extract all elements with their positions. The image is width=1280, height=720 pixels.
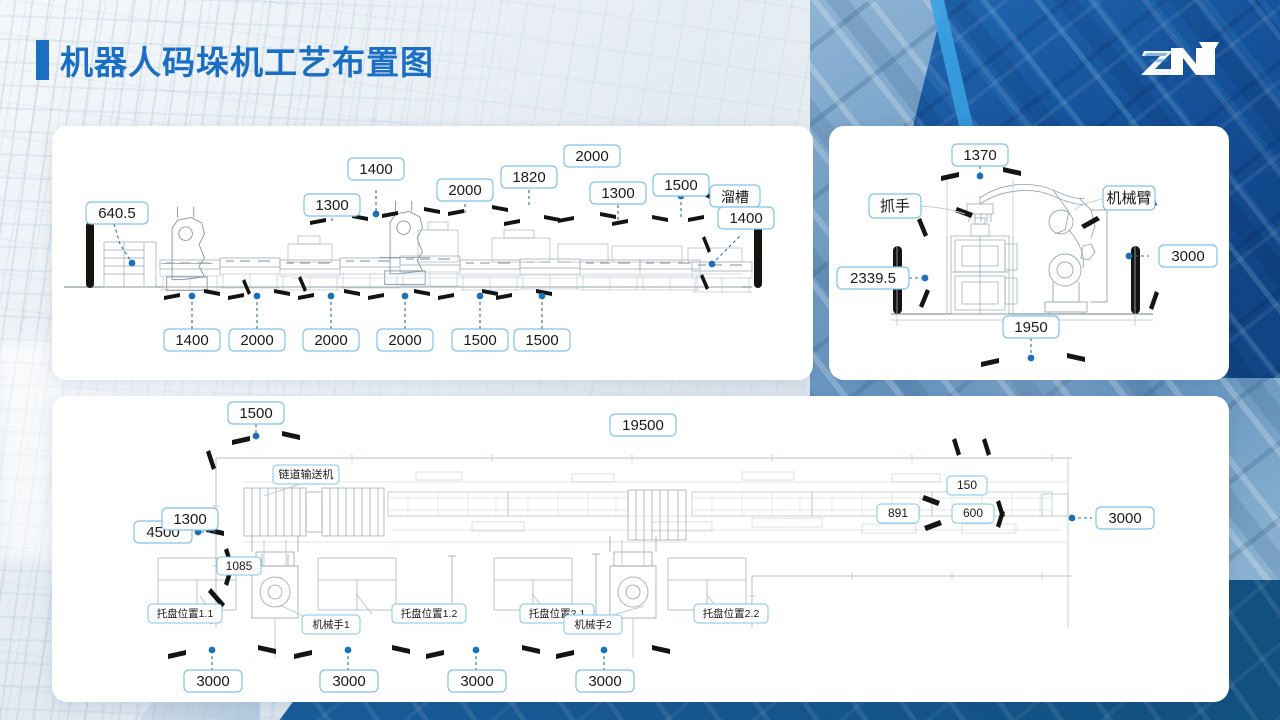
callout-label: 3000 <box>588 673 621 690</box>
callout-891[interactable]: 891 <box>877 504 919 523</box>
callout-label: 1500 <box>239 405 272 422</box>
callout-conveyor[interactable]: 链道输送机 <box>273 465 339 484</box>
callout-2000-top-a[interactable]: 2000 <box>437 179 493 201</box>
slide-canvas: 机器人码垛机工艺布置图 <box>0 0 1280 720</box>
callout-label: 1300 <box>315 197 348 214</box>
pallet-stack-frame <box>947 218 1017 314</box>
callout-label: 3000 <box>460 673 493 690</box>
callout-label: 19500 <box>622 417 664 434</box>
machine-details <box>162 222 742 287</box>
robot-arm <box>980 184 1107 314</box>
callout-1085[interactable]: 1085 <box>217 557 261 575</box>
elevation-drawing: 1400 1300 2000 1820 2000 1300 <box>52 126 813 380</box>
callout-robot-arm[interactable]: 机械臂 <box>1103 186 1155 210</box>
conveyor-train <box>244 482 1068 542</box>
callout-label: 托盘位置2.2 <box>703 607 760 620</box>
page-header: 机器人码垛机工艺布置图 <box>36 36 434 84</box>
callout-plan-bottom-1[interactable]: 3000 <box>184 670 242 692</box>
page-title: 机器人码垛机工艺布置图 <box>60 36 434 84</box>
callout-1400-top[interactable]: 1400 <box>348 158 404 180</box>
callout-label: 3000 <box>1171 248 1204 265</box>
callout-robot-2[interactable]: 机械手2 <box>564 615 622 634</box>
callout-2000-top-b[interactable]: 2000 <box>564 145 620 167</box>
robot-detail-drawing: 1370 抓手 机械臂 2339.5 3000 1950 <box>829 126 1229 380</box>
panel-elevation-layout: 1400 1300 2000 1820 2000 1300 <box>52 126 813 380</box>
callout-label: 链道输送机 <box>279 467 334 481</box>
callout-label: 1300 <box>601 185 634 202</box>
robot-plan-1 <box>252 536 298 618</box>
callout-gripper[interactable]: 抓手 <box>869 194 921 218</box>
callout-label: 托盘位置1.1 <box>157 607 214 620</box>
callout-plan-bottom-4[interactable]: 3000 <box>576 670 634 692</box>
callout-robot-1[interactable]: 机械手1 <box>302 615 360 634</box>
callout-label: 640.5 <box>98 205 136 222</box>
callout-label: 891 <box>888 506 908 520</box>
callout-label: 1085 <box>226 559 253 573</box>
callout-1400-right[interactable]: 1400 <box>718 207 774 229</box>
callout-label: 2339.5 <box>850 270 896 287</box>
plan-drawing: 1500 19500 4500 1300 1085 链道输送机 <box>52 396 1229 702</box>
title-accent-bar <box>36 40 49 80</box>
callout-bottom-6[interactable]: 1500 <box>514 329 570 351</box>
callout-label: 1370 <box>963 147 996 164</box>
callout-pallet-1-1[interactable]: 托盘位置1.1 <box>148 604 222 623</box>
callout-label: 2000 <box>388 332 421 349</box>
callout-label: 3000 <box>1108 510 1141 527</box>
callout-label: 1300 <box>173 511 206 528</box>
callout-bottom-3[interactable]: 2000 <box>303 329 359 351</box>
callout-bottom-1[interactable]: 1400 <box>164 329 220 351</box>
callout-3000-plan-right[interactable]: 3000 <box>1096 507 1154 529</box>
callout-label: 2000 <box>314 332 347 349</box>
callout-label: 机械臂 <box>1106 190 1151 207</box>
callout-label: 600 <box>963 506 983 520</box>
callout-chute[interactable]: 溜槽 <box>710 185 760 207</box>
callout-plan-bottom-2[interactable]: 3000 <box>320 670 378 692</box>
callout-label: 溜槽 <box>721 189 749 205</box>
machine-annotations <box>416 472 1016 533</box>
callout-3000-right[interactable]: 3000 <box>1159 245 1217 267</box>
callout-19500[interactable]: 19500 <box>610 414 676 436</box>
callout-pallet-2-2[interactable]: 托盘位置2.2 <box>694 604 768 623</box>
robot-unit <box>161 207 212 291</box>
callout-label: 2000 <box>240 332 273 349</box>
callout-600[interactable]: 600 <box>952 504 994 523</box>
callout-bottom-4[interactable]: 2000 <box>377 329 433 351</box>
callout-1370[interactable]: 1370 <box>952 144 1008 166</box>
pallet-position-2-2 <box>668 558 746 610</box>
callout-label: 150 <box>957 478 977 492</box>
left-post <box>86 222 94 288</box>
plan-frame-markers <box>212 454 1068 628</box>
callout-label: 托盘位置1.2 <box>401 607 458 620</box>
callout-1820-top[interactable]: 1820 <box>501 166 557 188</box>
callout-label: 1500 <box>525 332 558 349</box>
callout-label: 机械手2 <box>574 618 611 631</box>
callout-bottom-2[interactable]: 2000 <box>229 329 285 351</box>
callout-label: 1820 <box>512 169 545 186</box>
callout-label: 3000 <box>332 673 365 690</box>
company-logo-icon <box>1140 36 1220 80</box>
callout-1500-plan[interactable]: 1500 <box>228 402 284 424</box>
robot-plan-2 <box>610 536 656 618</box>
pallet-position-2-1 <box>494 558 572 610</box>
callout-bottom-5[interactable]: 1500 <box>452 329 508 351</box>
right-post <box>754 222 762 288</box>
callout-label: 机械手1 <box>312 618 349 631</box>
callout-1950[interactable]: 1950 <box>1003 316 1059 338</box>
callout-1500-top[interactable]: 1500 <box>653 174 709 196</box>
callout-label: 2000 <box>575 148 608 165</box>
callout-1300-plan[interactable]: 1300 <box>162 508 218 530</box>
callout-label: 1400 <box>175 332 208 349</box>
callout-plan-bottom-3[interactable]: 3000 <box>448 670 506 692</box>
callout-label: 1950 <box>1014 319 1047 336</box>
panel-robot-detail: 1370 抓手 机械臂 2339.5 3000 1950 <box>829 126 1229 380</box>
callout-label: 抓手 <box>880 198 910 215</box>
callout-label: 1400 <box>359 161 392 178</box>
callout-label: 1500 <box>463 332 496 349</box>
callout-150[interactable]: 150 <box>947 476 987 495</box>
panel-plan-layout: 1500 19500 4500 1300 1085 链道输送机 <box>52 396 1229 702</box>
callout-1300-top-b[interactable]: 1300 <box>590 182 646 204</box>
callout-label: 1400 <box>729 210 762 227</box>
pallet-position-1-2 <box>318 558 396 610</box>
callout-pallet-1-2[interactable]: 托盘位置1.2 <box>392 604 466 623</box>
callout-label: 2000 <box>448 182 481 199</box>
dimension-ticks-top <box>310 192 720 290</box>
callout-2339-5[interactable]: 2339.5 <box>837 267 909 289</box>
callout-1300-top[interactable]: 1300 <box>304 194 360 216</box>
callout-640-5[interactable]: 640.5 <box>86 202 148 224</box>
callout-label: 3000 <box>196 673 229 690</box>
callout-label: 1500 <box>664 177 697 194</box>
